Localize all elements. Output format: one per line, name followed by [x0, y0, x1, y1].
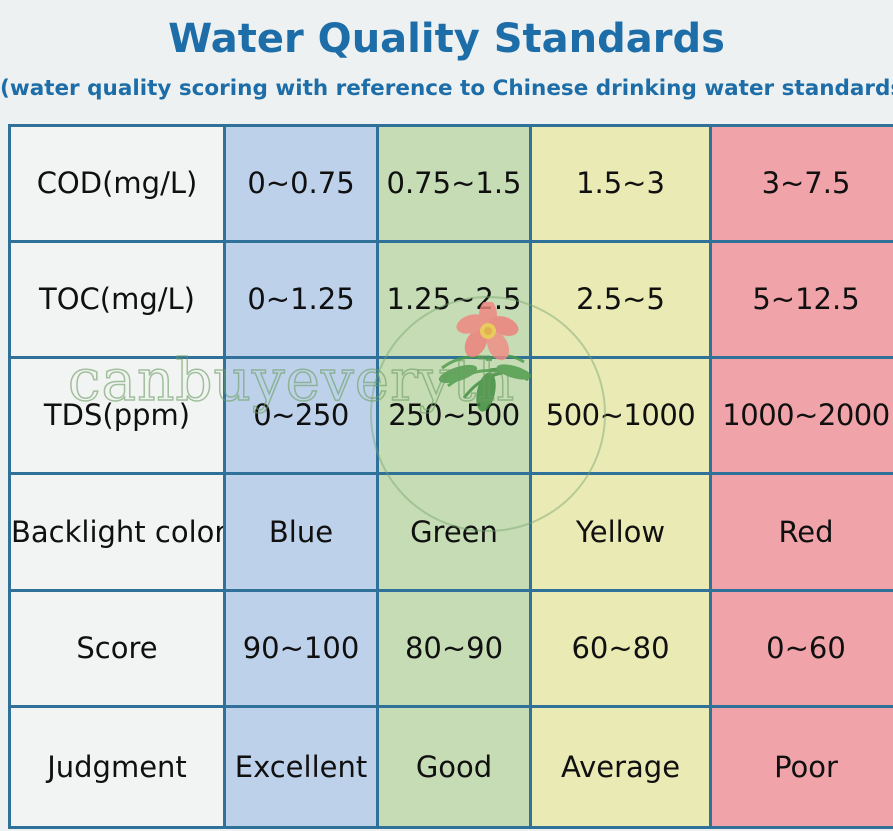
- water-quality-standards-table-wrapper: COD(mg/L) 0~0.75 0.75~1.5 1.5~3 3~7.5 TO…: [8, 124, 885, 808]
- cell-backlight-red: Red: [711, 474, 893, 591]
- cell-backlight-blue: Blue: [225, 474, 378, 591]
- row-label-backlight-color: Backlight color: [10, 474, 225, 591]
- cell-tds-red: 1000~2000: [711, 358, 893, 474]
- cell-backlight-green: Green: [378, 474, 531, 591]
- cell-toc-yellow: 2.5~5: [531, 242, 711, 358]
- cell-score-green: 80~90: [378, 591, 531, 707]
- page-subtitle: (water quality scoring with reference to…: [0, 76, 893, 101]
- cell-toc-red: 5~12.5: [711, 242, 893, 358]
- cell-score-blue: 90~100: [225, 591, 378, 707]
- cell-judgment-red: Poor: [711, 707, 893, 828]
- page-header: Water Quality Standards (water quality s…: [0, 0, 893, 124]
- row-label-score: Score: [10, 591, 225, 707]
- row-label-tds: TDS(ppm): [10, 358, 225, 474]
- cell-toc-green: 1.25~2.5: [378, 242, 531, 358]
- cell-cod-red: 3~7.5: [711, 126, 893, 242]
- cell-judgment-blue: Excellent: [225, 707, 378, 828]
- cell-backlight-yellow: Yellow: [531, 474, 711, 591]
- table-row: TDS(ppm) 0~250 250~500 500~1000 1000~200…: [10, 358, 893, 474]
- cell-judgment-yellow: Average: [531, 707, 711, 828]
- table-row: Judgment Excellent Good Average Poor: [10, 707, 893, 828]
- table-row: COD(mg/L) 0~0.75 0.75~1.5 1.5~3 3~7.5: [10, 126, 893, 242]
- table-row: TOC(mg/L) 0~1.25 1.25~2.5 2.5~5 5~12.5: [10, 242, 893, 358]
- cell-tds-green: 250~500: [378, 358, 531, 474]
- row-label-toc: TOC(mg/L): [10, 242, 225, 358]
- water-quality-standards-table: COD(mg/L) 0~0.75 0.75~1.5 1.5~3 3~7.5 TO…: [8, 124, 893, 829]
- table-row: Score 90~100 80~90 60~80 0~60: [10, 591, 893, 707]
- cell-tds-yellow: 500~1000: [531, 358, 711, 474]
- cell-toc-blue: 0~1.25: [225, 242, 378, 358]
- table-row: Backlight color Blue Green Yellow Red: [10, 474, 893, 591]
- cell-cod-green: 0.75~1.5: [378, 126, 531, 242]
- page-title: Water Quality Standards: [0, 16, 893, 62]
- row-label-judgment: Judgment: [10, 707, 225, 828]
- cell-score-yellow: 60~80: [531, 591, 711, 707]
- cell-cod-yellow: 1.5~3: [531, 126, 711, 242]
- row-label-cod: COD(mg/L): [10, 126, 225, 242]
- cell-judgment-green: Good: [378, 707, 531, 828]
- cell-cod-blue: 0~0.75: [225, 126, 378, 242]
- cell-score-red: 0~60: [711, 591, 893, 707]
- cell-tds-blue: 0~250: [225, 358, 378, 474]
